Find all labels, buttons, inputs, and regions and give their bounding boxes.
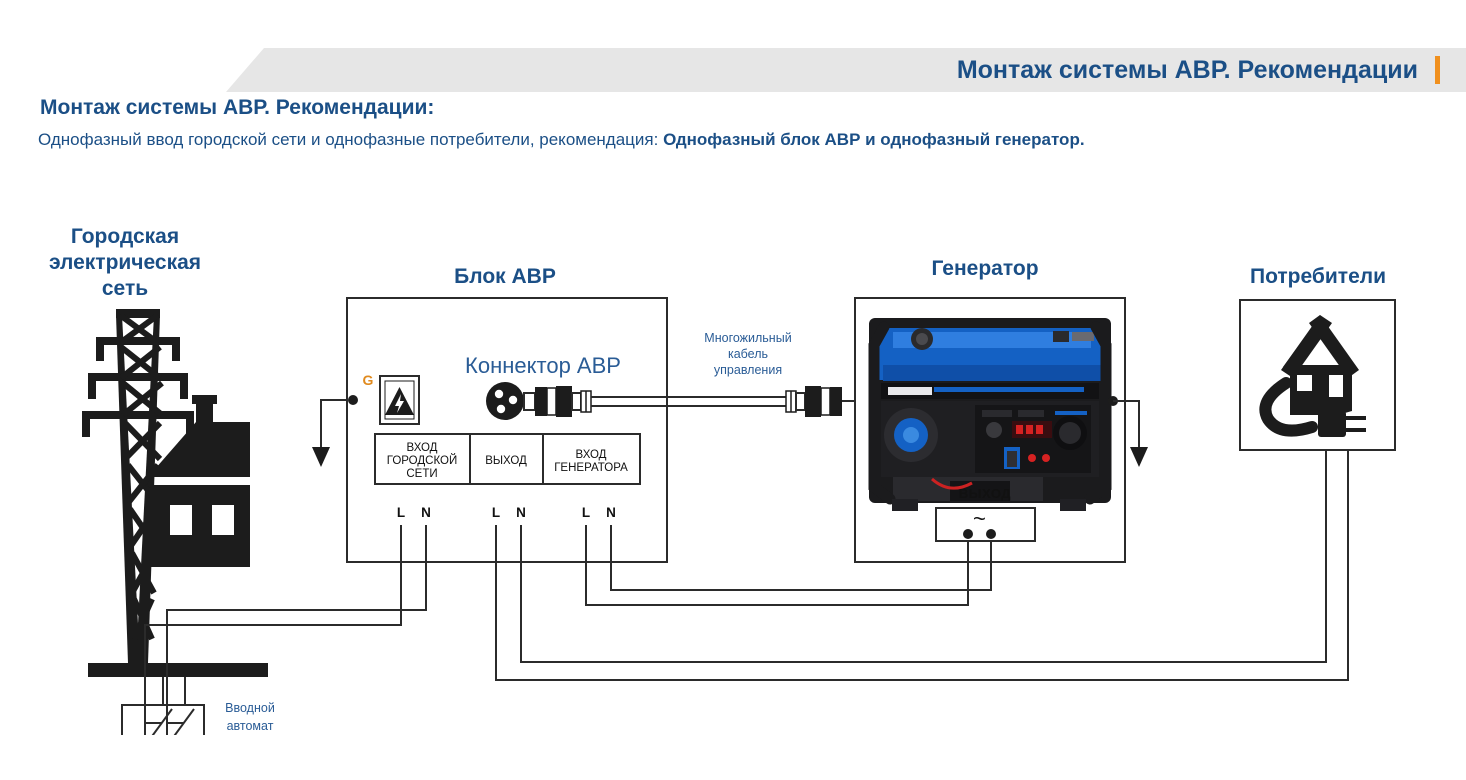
section-label-ats: Блок АВР [454,265,556,288]
subtitle-emphasis: Однофазный блок АВР и однофазный генерат… [663,130,1085,149]
pin-grid-n: N [421,505,431,520]
input-breaker [122,705,204,735]
page-title: Монтаж системы АВР. Рекомендации: [40,96,434,120]
ac-symbol: ~ [973,506,986,531]
cable-label-line-3: управления [714,363,782,377]
ats-terminal-strip: ВХОД ГОРОДСКОЙ СЕТИ ВЫХОД ВХОД ГЕНЕРАТОР… [375,434,640,484]
generator-output-socket: ~ [936,506,1035,541]
section-label-grid: Городская электрическая сеть [49,225,201,300]
breaker-label-line-1: Вводной [225,701,275,715]
ats-connector-title: Коннектор АВР [465,353,621,378]
terminal-grid-line-2: ГОРОДСКОЙ [387,454,458,467]
header-banner: Монтаж системы АВР. Рекомендации [0,48,1466,92]
house-with-plug-icon [1240,300,1395,450]
electrical-hazard-icon [380,376,419,424]
section-label-consumers: Потребители [1250,265,1386,288]
terminal-output-line-1: ВЫХОД [485,455,527,467]
grid-label-line-3: сеть [102,277,148,300]
banner-title: Монтаж системы АВР. Рекомендации [957,48,1418,92]
pin-gen-n: N [606,505,616,520]
pin-grid-l: L [397,505,405,520]
ats-enclosure [347,298,667,562]
wiring-diagram: Городская электрическая сеть Блок АВР Ге… [0,215,1466,735]
pin-out-l: L [492,505,500,520]
page-subtitle: Однофазный ввод городской сети и однофаз… [38,128,1428,153]
power-tower-house-icon [82,309,268,677]
grid-label-line-2: электрическая [49,251,201,274]
pin-out-n: N [516,505,526,520]
terminal-gen-line-1: ВХОД [576,449,607,461]
grid-label-line-1: Городская [71,225,179,248]
terminal-grid-line-1: ВХОД [407,442,438,454]
generator-output-label: ВЫХОД [959,486,1011,501]
portable-generator-photo [869,318,1111,511]
pin-gen-l: L [582,505,590,520]
cable-label-line-1: Многожильный [704,331,791,345]
terminal-gen-line-2: ГЕНЕРАТОРА [554,462,628,474]
banner-accent-bar [1435,56,1440,84]
ground-label: G [363,372,374,388]
terminal-grid-line-3: СЕТИ [406,468,437,480]
subtitle-plain: Однофазный ввод городской сети и однофаз… [38,130,663,149]
breaker-label-line-2: автомат [227,719,274,733]
section-label-generator: Генератор [931,257,1038,280]
cable-label-line-2: кабель [728,347,768,361]
